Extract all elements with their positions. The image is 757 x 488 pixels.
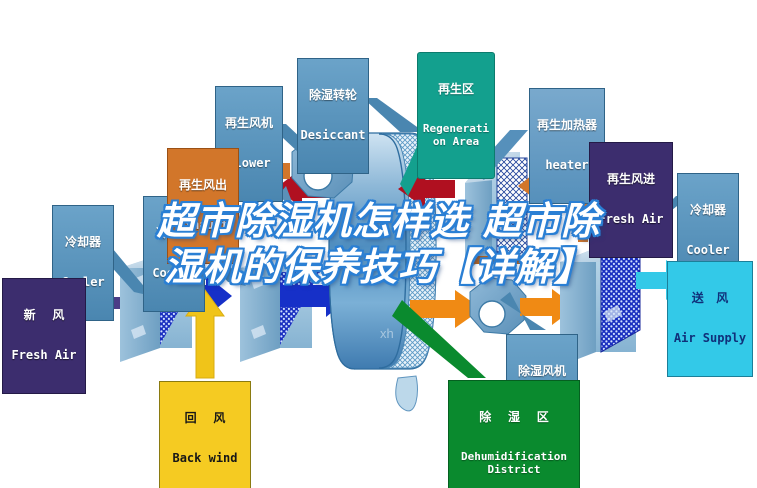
label-dehumidification-district: 除 湿 区 Dehumidification District (448, 380, 580, 488)
label-en: Exhaust (170, 219, 236, 232)
label-cn: 冷却器 (680, 204, 736, 217)
label-air-supply: 送 风 Air Supply (667, 261, 753, 377)
label-cn: 除 湿 区 (451, 411, 577, 424)
label-cn: 除湿转轮 (300, 89, 366, 102)
label-desiccant-rotor: 除湿转轮 Desiccant (297, 58, 369, 174)
cooler-block-left2 (240, 255, 320, 362)
label-regeneration-fresh-air: 再生风进 Fresh Air (589, 142, 673, 258)
label-en: Desiccant (300, 129, 366, 142)
label-cn: 回 风 (162, 412, 248, 425)
label-en: Dehumidification District (451, 451, 577, 476)
label-back-wind: 回 风 Back wind (159, 381, 251, 488)
label-exhaust: 再生风出 Exhaust (167, 148, 239, 264)
watermark-text: xh (380, 326, 394, 341)
label-cn: 再生风出 (170, 179, 236, 192)
label-en: Fresh Air (592, 213, 670, 226)
label-en: Back wind (162, 452, 248, 465)
label-fresh-air-intake: 新 风 Fresh Air (2, 278, 86, 394)
label-cn: 送 风 (670, 292, 750, 305)
label-cn: 新 风 (5, 309, 83, 322)
label-regeneration-area: 再生区 Regenerati on Area (417, 52, 495, 179)
label-cn: 冷却器 (55, 236, 111, 249)
label-en: Regenerati on Area (420, 123, 492, 148)
label-en: Air Supply (670, 332, 750, 345)
label-en: Fresh Air (5, 349, 83, 362)
label-en: Cooler (146, 267, 202, 280)
diagram-canvas: xh 除湿转轮 Desiccant 再生风机 Blower 再生区 Regene… (0, 0, 757, 488)
label-cn: 除湿风机 (509, 365, 575, 378)
label-cn: 再生区 (420, 83, 492, 96)
label-cn: 再生风机 (218, 117, 280, 130)
label-en: Cooler (680, 244, 736, 257)
label-cn: 再生加热器 (532, 119, 602, 132)
label-cn: 再生风进 (592, 173, 670, 186)
dehumidification-blower-fan (470, 278, 526, 334)
